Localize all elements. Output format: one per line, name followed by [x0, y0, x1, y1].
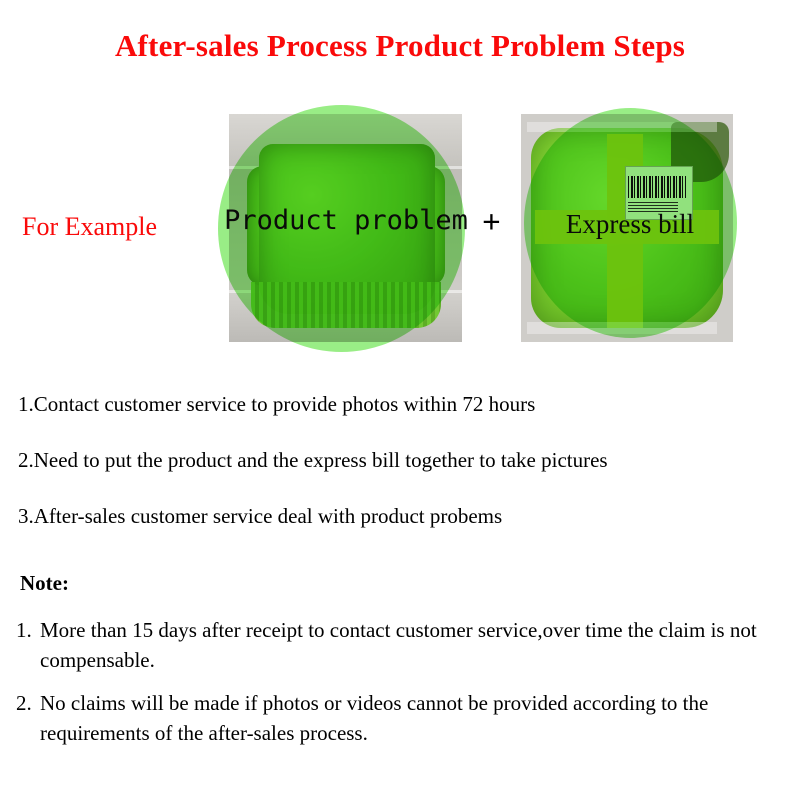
page-root: After-sales Process Product Problem Step…	[0, 0, 800, 800]
step-item-3: 3.After-sales customer service deal with…	[18, 504, 788, 529]
note-item-2: 2.No claims will be made if photos or vi…	[16, 688, 794, 749]
page-title: After-sales Process Product Problem Step…	[0, 28, 800, 64]
express-bill-photo-caption: Express bill	[524, 209, 736, 240]
steps-list: 1.Contact customer service to provide ph…	[18, 392, 788, 560]
note-item-1-text: More than 15 days after receipt to conta…	[40, 618, 757, 672]
step-item-1: 1.Contact customer service to provide ph…	[18, 392, 788, 417]
plus-sign: +	[482, 205, 501, 242]
note-heading: Note:	[20, 571, 69, 596]
step-item-2: 2.Need to put the product and the expres…	[18, 448, 788, 473]
note-item-1-number: 1.	[16, 615, 40, 645]
note-list: 1.More than 15 days after receipt to con…	[16, 615, 794, 761]
product-photo-caption: Product problem	[221, 205, 471, 236]
note-item-2-text: No claims will be made if photos or vide…	[40, 691, 708, 745]
note-item-2-number: 2.	[16, 688, 40, 718]
example-illustration-row: For Example Prod	[0, 105, 800, 355]
for-example-label: For Example	[22, 212, 157, 242]
note-item-1: 1.More than 15 days after receipt to con…	[16, 615, 794, 676]
